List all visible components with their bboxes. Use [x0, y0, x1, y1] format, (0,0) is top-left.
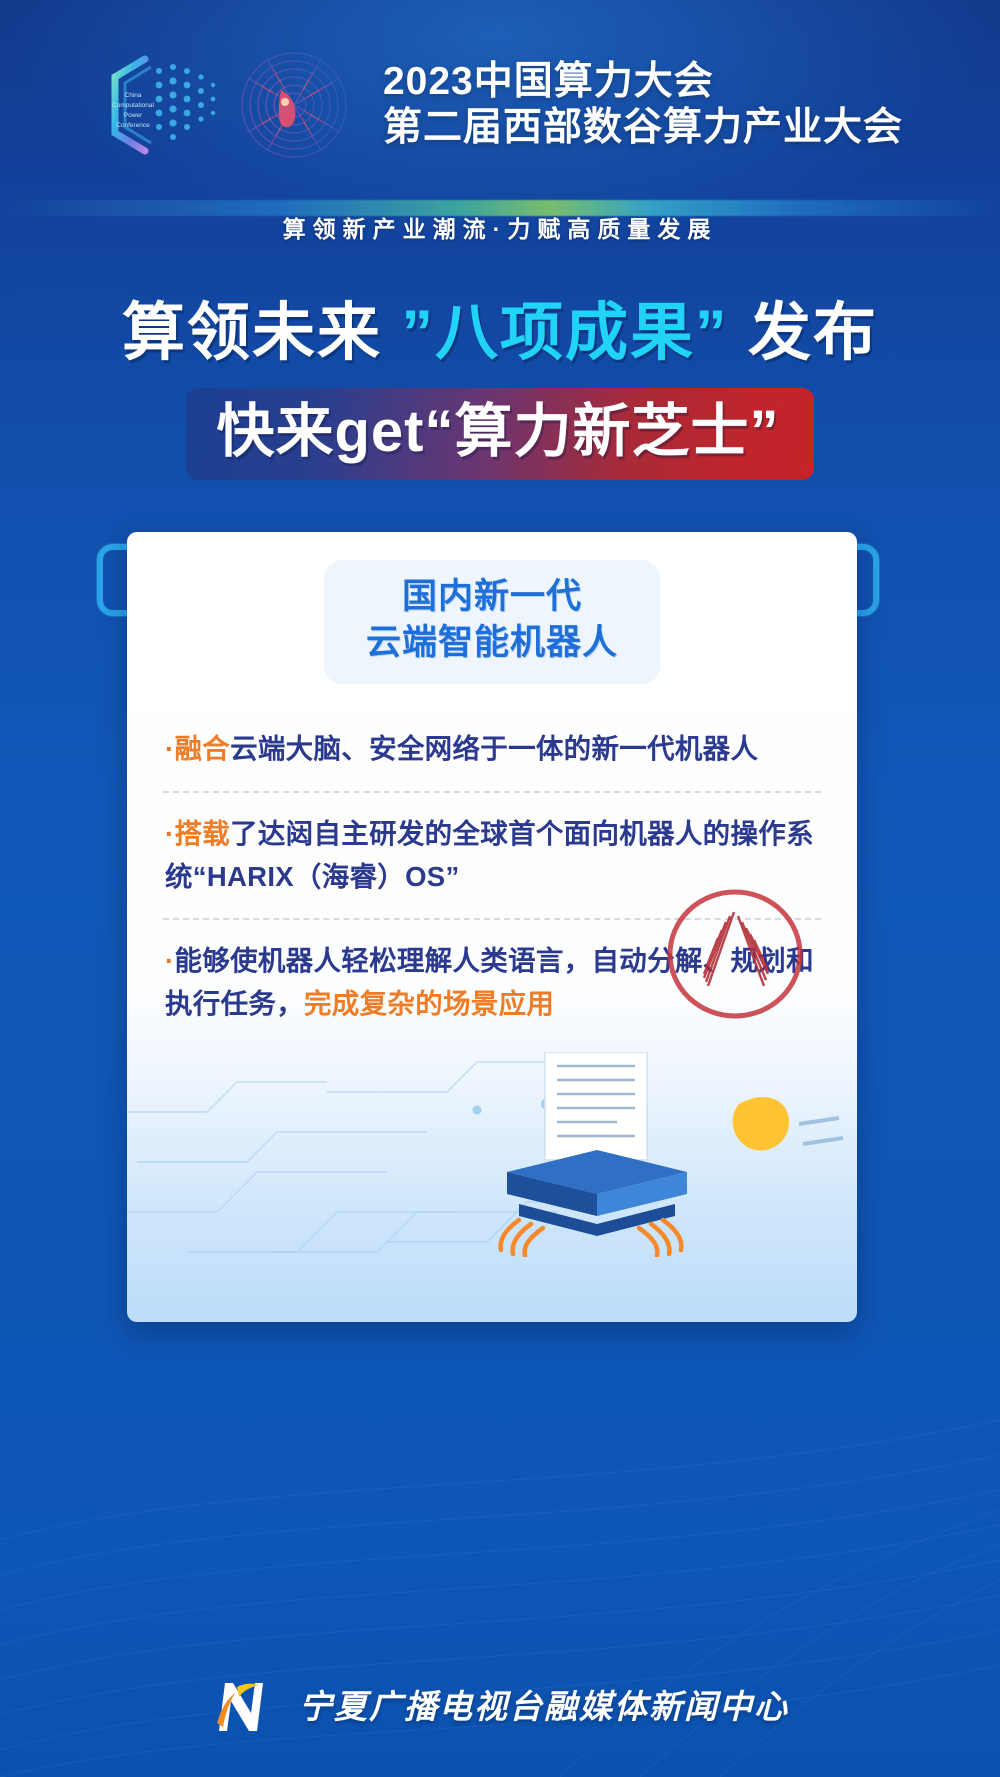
conference-header: China Computational Power Conference	[0, 0, 1000, 200]
title-part1: 算领未来	[122, 298, 382, 368]
conference-hex-logo-icon: China Computational Power Conference	[97, 45, 227, 165]
list-item: ·能够使机器人轻松理解人类语言，自动分解、规划和执行任务，完成复杂的场景应用	[161, 920, 823, 1045]
bullet-text: 了达闼自主研发的全球首个面向机器人的操作系统“HARIX（海睿）OS”	[165, 818, 814, 892]
result-card-container: 国内新一代 云端智能机器人 ·融合云端大脑、安全网络于一体的新一代机器人 ·搭载…	[109, 532, 891, 1322]
list-item: ·搭载了达闼自主研发的全球首个面向机器人的操作系统“HARIX（海睿）OS”	[161, 793, 823, 918]
card-bullet-list: ·融合云端大脑、安全网络于一体的新一代机器人 ·搭载了达闼自主研发的全球首个面向…	[127, 684, 857, 1045]
card-illustration	[127, 1052, 857, 1257]
svg-text:China: China	[124, 92, 141, 99]
bullet-emphasis: 搭载	[174, 818, 230, 849]
poster-title-line1: 算领未来 ”八项成果” 发布	[0, 296, 1000, 372]
footer-text: 宁夏广播电视台融媒体新闻中心	[299, 1680, 789, 1728]
conference-title-line2: 第二届西部数谷算力产业大会	[383, 105, 903, 151]
svg-text:Computational: Computational	[112, 102, 154, 109]
ntv-logo-icon	[211, 1673, 283, 1735]
server-document-illustration-icon	[127, 1052, 857, 1257]
title-close-quote: ”	[695, 298, 729, 368]
bullet-trailing-emphasis: 完成复杂的场景应用	[304, 988, 554, 1019]
bullet-emphasis: 融合	[174, 733, 230, 764]
card-title-line2: 云端智能机器人	[366, 620, 618, 666]
conference-fan-logo-icon	[235, 46, 353, 164]
slogan-bar: 算领新产业潮流·力赋高质量发展	[0, 196, 1000, 252]
result-card: 国内新一代 云端智能机器人 ·融合云端大脑、安全网络于一体的新一代机器人 ·搭载…	[127, 532, 857, 1322]
card-header-badge: 国内新一代 云端智能机器人	[324, 560, 660, 684]
slogan-text: 算领新产业潮流·力赋高质量发展	[0, 210, 1000, 244]
conference-title-block: 2023中国算力大会 第二届西部数谷算力产业大会	[383, 59, 903, 151]
card-title-line1: 国内新一代	[366, 574, 618, 620]
title-highlight: 八项成果	[435, 298, 695, 368]
bullet-text: 云端大脑、安全网络于一体的新一代机器人	[230, 733, 758, 764]
poster-title-line2-badge: 快来get“算力新芝士”	[186, 388, 813, 480]
poster-title-block: 算领未来 ”八项成果” 发布 快来get“算力新芝士”	[0, 296, 1000, 480]
list-item: ·融合云端大脑、安全网络于一体的新一代机器人	[161, 708, 823, 791]
svg-text:Conference: Conference	[116, 122, 150, 129]
svg-text:Power: Power	[124, 112, 143, 119]
title-part2: 发布	[748, 298, 878, 368]
conference-title-line1: 2023中国算力大会	[383, 59, 903, 105]
card-header: 国内新一代 云端智能机器人	[127, 532, 857, 684]
title-open-quote: ”	[402, 298, 436, 368]
footer-branding: 宁夏广播电视台融媒体新闻中心	[0, 1673, 1000, 1735]
